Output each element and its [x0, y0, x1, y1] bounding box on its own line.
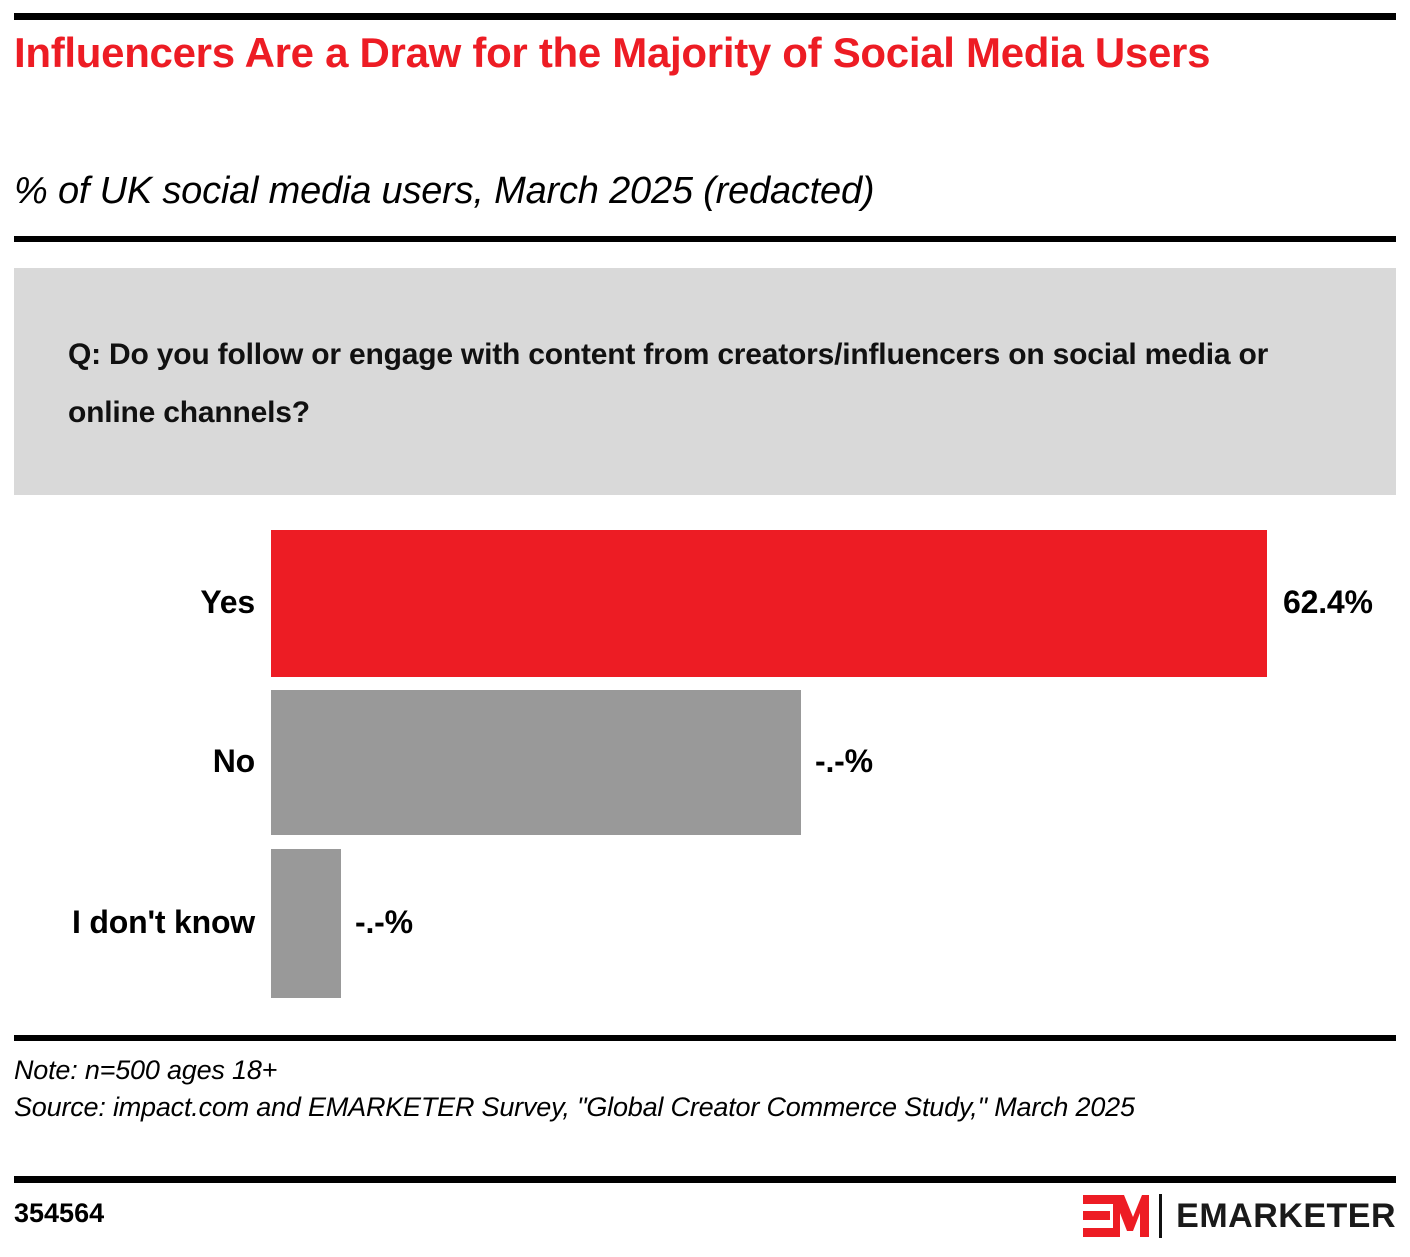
note-line: Note: n=500 ages 18+ [14, 1052, 1396, 1089]
bar-row-i-dont-know: I don't know -.-% [0, 849, 1410, 998]
question-band: Q: Do you follow or engage with content … [14, 268, 1396, 495]
bar-value-label-no: -.-% [815, 743, 873, 780]
header-divider-rule [14, 236, 1396, 242]
bar-row-no: No -.-% [0, 690, 1410, 835]
bar-no [271, 690, 801, 835]
page-title: Influencers Are a Draw for the Majority … [14, 28, 1384, 78]
page-subtitle: % of UK social media users, March 2025 (… [14, 168, 1384, 214]
infographic-page: Influencers Are a Draw for the Majority … [0, 0, 1410, 1257]
bar-category-label-no: No [0, 743, 255, 780]
bar-chart: Yes 62.4% No -.-% I don't know -.-% [0, 520, 1410, 1020]
bar-value-label-yes: 62.4% [1283, 584, 1373, 621]
top-rule [14, 13, 1396, 20]
notes-block: Note: n=500 ages 18+ Source: impact.com … [14, 1052, 1396, 1126]
source-line: Source: impact.com and EMARKETER Survey,… [14, 1089, 1396, 1126]
bar-i-dont-know [271, 849, 341, 998]
bar-category-label-yes: Yes [0, 584, 255, 621]
emarketer-logo: EMARKETER [1083, 1190, 1396, 1242]
survey-question-text: Q: Do you follow or engage with content … [68, 326, 1308, 442]
footer-rule [14, 1176, 1396, 1183]
bar-value-label-i-dont-know: -.-% [355, 904, 413, 941]
bar-row-yes: Yes 62.4% [0, 530, 1410, 677]
bar-category-label-i-dont-know: I don't know [0, 904, 255, 941]
emarketer-wordmark: EMARKETER [1176, 1197, 1396, 1236]
chart-id: 354564 [14, 1198, 104, 1229]
bar-yes [271, 530, 1267, 677]
notes-divider-rule [14, 1035, 1396, 1041]
logo-divider [1159, 1194, 1162, 1238]
em-monogram-icon [1083, 1193, 1149, 1239]
